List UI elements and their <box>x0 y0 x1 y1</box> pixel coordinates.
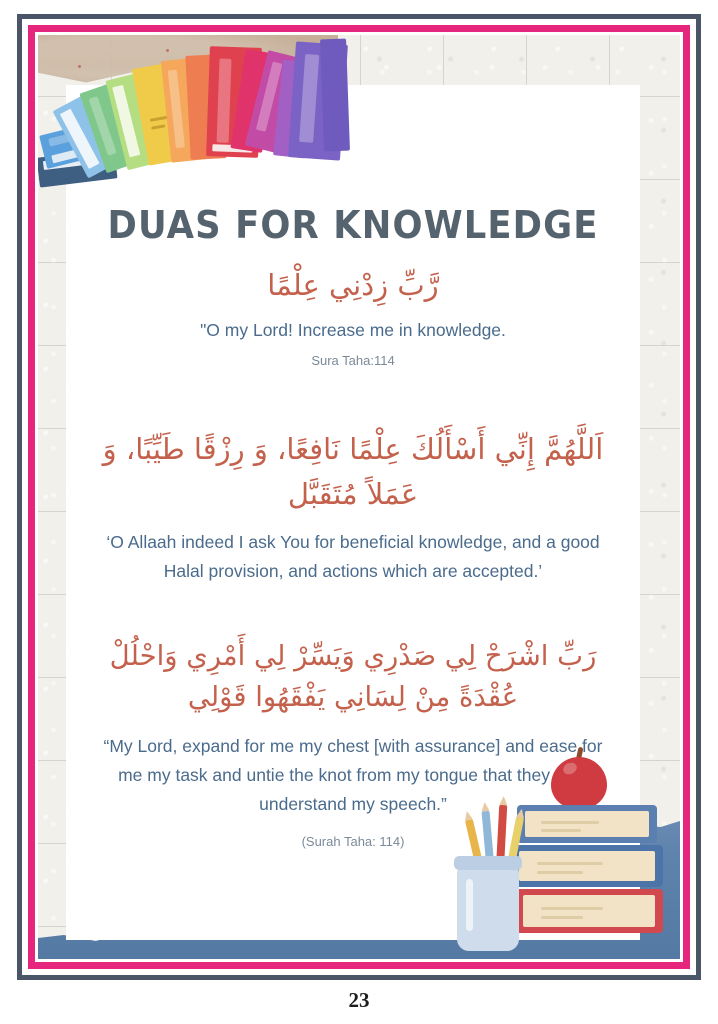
stack-book-middle <box>511 845 663 887</box>
dua-arabic-text: رَبِّ اشْرَحْ لِي صَدْرِي وَيَسِّرْ لِي … <box>66 636 640 719</box>
pencil-jar <box>457 865 519 951</box>
pencil-jar-lip <box>454 856 522 870</box>
page-number: 23 <box>0 988 718 1013</box>
rainbow-book-fan-illustration <box>38 37 315 189</box>
stack-book-bottom <box>515 889 663 933</box>
dua-translation-text: "O my Lord! Increase me in knowledge. <box>66 316 640 344</box>
pencil-jar-highlight <box>466 879 473 931</box>
page-canvas: DUAS FOR KNOWLEDGE رَّبِّ زِدْنِي عِلْمً… <box>38 35 680 959</box>
apple-icon <box>551 757 607 809</box>
dua-source-reference: Sura Taha:114 <box>66 351 640 371</box>
dua-block-2: اَللَّهُمَّ إِنِّي أَسْأَلُكَ عِلْمًا نَ… <box>66 427 640 586</box>
page-title: DUAS FOR KNOWLEDGE <box>86 203 620 247</box>
page: DUAS FOR KNOWLEDGE رَّبِّ زِدْنِي عِلْمً… <box>0 0 718 1024</box>
dua-arabic-text: رَّبِّ زِدْنِي عِلْمًا <box>66 263 640 307</box>
dua-block-1: رَّبِّ زِدْنِي عِلْمًا "O my Lord! Incre… <box>66 263 640 371</box>
book-deep-purple <box>320 39 350 152</box>
dua-translation-text: ‘O Allaah indeed I ask You for beneficia… <box>66 528 640 586</box>
stack-book-top <box>517 805 657 843</box>
dua-arabic-text: اَللَّهُمَّ إِنِّي أَسْأَلُكَ عِلْمًا نَ… <box>66 427 640 517</box>
apple-books-pencil-jar-illustration <box>455 743 670 951</box>
